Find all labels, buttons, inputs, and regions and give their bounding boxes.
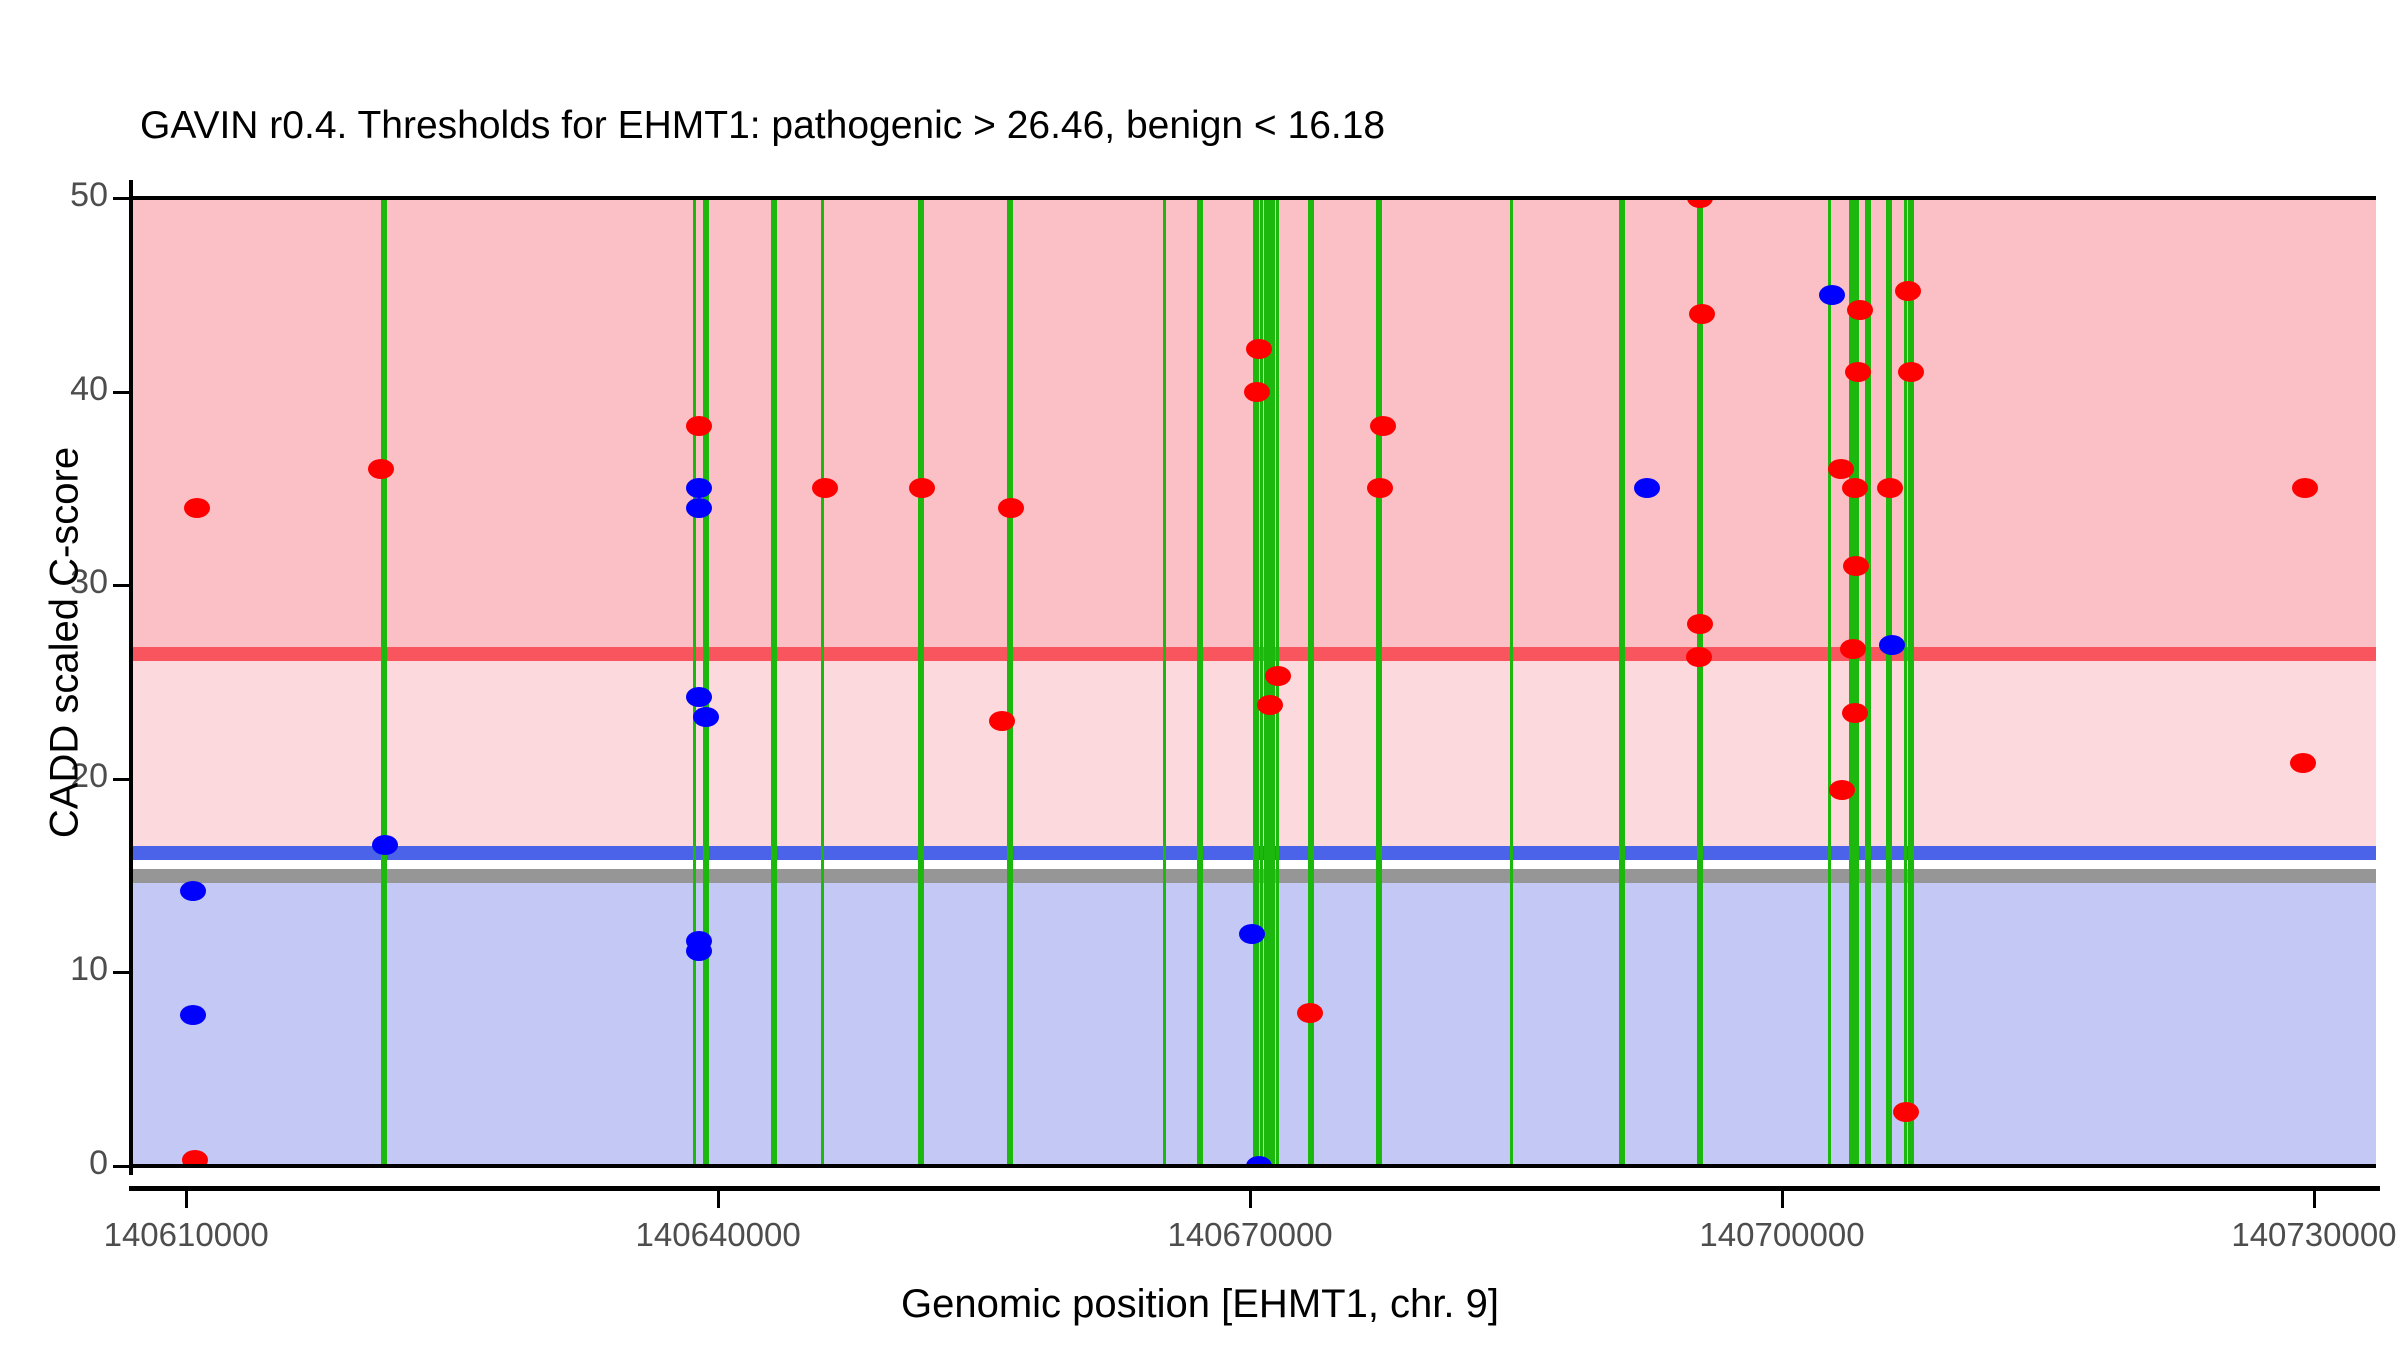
pathogenic-variant-point <box>1895 281 1921 301</box>
exon-marker-line <box>1865 198 1871 1166</box>
y-axis-label: CADD scaled C-score <box>43 263 88 1023</box>
y-tick-label: 50 <box>8 176 108 215</box>
y-axis-line <box>129 180 133 1175</box>
x-tick-label: 140700000 <box>1632 1216 1932 1254</box>
y-tick-label: 0 <box>8 1144 108 1183</box>
gnomad-variant-point <box>686 478 712 498</box>
x-tick-mark <box>717 1191 720 1208</box>
pathogenic-variant-point <box>1257 695 1283 715</box>
exon-marker-line <box>1908 198 1914 1166</box>
pathogenic-variant-point <box>998 498 1024 518</box>
pathogenic-variant-point <box>1842 703 1868 723</box>
exon-marker-line <box>693 198 696 1166</box>
gnomad-variant-point <box>686 498 712 518</box>
exon-marker-line <box>771 198 777 1166</box>
exon-marker-line <box>1697 198 1703 1166</box>
exon-marker-line <box>821 198 824 1166</box>
x-axis-label: Genomic position [EHMT1, chr. 9] <box>0 1282 2400 1327</box>
gnomad-variant-point <box>686 941 712 961</box>
pathogenic-variant-point <box>1367 478 1393 498</box>
pathogenic-variant-point <box>184 498 210 518</box>
exon-marker-line <box>1854 198 1857 1166</box>
pathogenic-variant-point <box>812 478 838 498</box>
gnomad-variant-point <box>693 707 719 727</box>
exon-marker-line <box>1619 198 1625 1166</box>
y-tick-mark <box>113 197 130 200</box>
x-tick-label: 140670000 <box>1100 1216 1400 1254</box>
exon-marker-line <box>381 198 387 1166</box>
pathogenic-variant-point <box>1828 459 1854 479</box>
x-tick-mark <box>1249 1191 1252 1208</box>
x-tick-label: 140640000 <box>568 1216 868 1254</box>
y-tick-mark <box>113 584 130 587</box>
y-tick-mark <box>113 1165 130 1168</box>
gnomad-variant-point <box>1239 924 1265 944</box>
x-tick-mark <box>2313 1191 2316 1208</box>
plot-root: GAVIN r0.4. Thresholds for EHMT1: pathog… <box>0 0 2400 1350</box>
pathogenic-variant-point <box>1893 1102 1919 1122</box>
exon-marker-line <box>1007 198 1013 1166</box>
exon-marker-line <box>1886 198 1892 1166</box>
exon-marker-line <box>1828 198 1831 1166</box>
pathogenic-variant-point <box>989 711 1015 731</box>
gnomad-variant-point <box>1819 285 1845 305</box>
exon-marker-line <box>1197 198 1203 1166</box>
pathogenic-variant-point <box>1246 339 1272 359</box>
title-line-1: GAVIN r0.4. Thresholds for EHMT1: pathog… <box>140 102 2340 149</box>
x-axis-line <box>129 1186 2380 1191</box>
pathogenic-variant-point <box>1244 382 1270 402</box>
exon-marker-line <box>1163 198 1166 1166</box>
exon-marker-line <box>1510 198 1513 1166</box>
x-tick-label: 140610000 <box>36 1216 336 1254</box>
pathogenic-variant-point <box>1840 639 1866 659</box>
x-tick-mark <box>1781 1191 1784 1208</box>
plot-panel <box>133 198 2376 1166</box>
exon-marker-line <box>1376 198 1382 1166</box>
exon-marker-line <box>703 198 709 1166</box>
x-tick-label: 140730000 <box>2164 1216 2400 1254</box>
y-tick-mark <box>113 971 130 974</box>
y-tick-mark <box>113 778 130 781</box>
exon-marker-line <box>918 198 924 1166</box>
y-tick-mark <box>113 391 130 394</box>
exon-marker-line <box>1904 198 1907 1166</box>
gnomad-variant-point <box>372 835 398 855</box>
x-tick-mark <box>185 1191 188 1208</box>
pathogenic-variant-point <box>1686 647 1712 667</box>
panel-top-border <box>133 196 2376 200</box>
panel-bottom-border <box>133 1164 2376 1168</box>
